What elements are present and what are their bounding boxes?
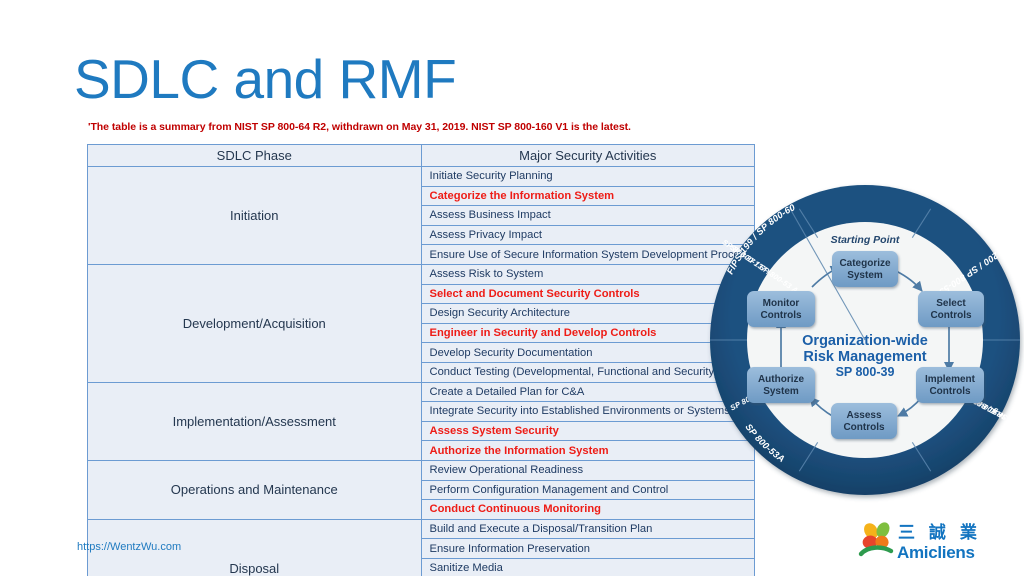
activity-cell: Build and Execute a Disposal/Transition … bbox=[421, 519, 755, 539]
cycle-arrows bbox=[781, 267, 949, 417]
activity-cell: Categorize the Information System bbox=[421, 186, 755, 206]
rmf-inner-disc bbox=[747, 222, 983, 458]
rmf-step-monitor-line1: Monitor bbox=[763, 298, 800, 309]
activity-cell: Assess Business Impact bbox=[421, 206, 755, 226]
activity-cell: Ensure Use of Secure Information System … bbox=[421, 245, 755, 265]
table-row: DisposalBuild and Execute a Disposal/Tra… bbox=[88, 519, 755, 539]
rmf-step-authorize-box bbox=[747, 367, 815, 403]
activity-cell: Integrate Security into Established Envi… bbox=[421, 402, 755, 422]
butterfly-flower-mark-icon bbox=[861, 521, 892, 554]
rmf-step-select: Select Controls bbox=[918, 291, 984, 327]
sdlc-rmf-table: SDLC Phase Major Security Activities Ini… bbox=[87, 144, 755, 576]
column-header-major-security-activities: Major Security Activities bbox=[421, 145, 755, 167]
rmf-step-assess-box bbox=[831, 403, 897, 439]
ring-label-right-lower-3: SP 800-61, SP 800-128 bbox=[930, 375, 1009, 423]
rmf-step-implement-line1: Implement bbox=[925, 374, 976, 385]
page-title: SDLC and RMF bbox=[74, 48, 456, 110]
rmf-step-assess-line2: Controls bbox=[843, 422, 885, 433]
table-row: InitiationInitiate Security Planning bbox=[88, 167, 755, 187]
rmf-step-authorize: Authorize System bbox=[747, 367, 815, 403]
rmf-step-select-line1: Select bbox=[936, 298, 966, 309]
rmf-step-authorize-line2: System bbox=[763, 386, 799, 397]
rmf-step-monitor-box bbox=[747, 291, 815, 327]
rmf-step-implement: Implement Controls bbox=[916, 367, 984, 403]
activity-cell: Create a Detailed Plan for C&A bbox=[421, 382, 755, 402]
ring-label-right-upper: FIPS 200 / SP 800-53 bbox=[937, 237, 1020, 297]
rmf-step-categorize-box bbox=[832, 251, 898, 287]
slide-canvas: SDLC and RMF ʹThe table is a summary fro… bbox=[0, 0, 1024, 576]
phase-cell: Development/Acquisition bbox=[88, 264, 422, 382]
activity-cell: Perform Configuration Management and Con… bbox=[421, 480, 755, 500]
table-row: Implementation/AssessmentCreate a Detail… bbox=[88, 382, 755, 402]
ring-label-right-upper-group: FIPS 200 / SP 800-53 bbox=[937, 237, 1020, 297]
rmf-step-implement-line2: Controls bbox=[929, 386, 971, 397]
rmf-outer-ring bbox=[710, 185, 1020, 495]
starting-point-label: Starting Point bbox=[831, 234, 900, 246]
source-note: ʹThe table is a summary from NIST SP 800… bbox=[88, 121, 631, 133]
table-row: Development/AcquisitionAssess Risk to Sy… bbox=[88, 264, 755, 284]
activity-cell: Sanitize Media bbox=[421, 558, 755, 576]
activity-cell: Assess Privacy Impact bbox=[421, 225, 755, 245]
phase-cell: Initiation bbox=[88, 167, 422, 265]
column-header-sdlc-phase: SDLC Phase bbox=[88, 145, 422, 167]
activity-cell: Review Operational Readiness bbox=[421, 460, 755, 480]
ring-dividers bbox=[710, 206, 1020, 471]
rmf-step-monitor: Monitor Controls bbox=[747, 291, 815, 327]
activity-cell: Authorize the Information System bbox=[421, 441, 755, 461]
table-body: InitiationInitiate Security PlanningCate… bbox=[88, 167, 755, 576]
phase-cell: Operations and Maintenance bbox=[88, 460, 422, 519]
activity-cell: Initiate Security Planning bbox=[421, 167, 755, 187]
table-row: Operations and MaintenanceReview Operati… bbox=[88, 460, 755, 480]
ring-label-right-lower-group: Multiple NIST Publicationsʺ ʺe.g., SP 80… bbox=[930, 375, 1024, 437]
rmf-center-line1: Organization-wide bbox=[802, 333, 928, 349]
activity-cell: Conduct Testing (Developmental, Function… bbox=[421, 362, 755, 382]
activity-cell: Conduct Continuous Monitoring bbox=[421, 500, 755, 520]
rmf-step-authorize-line1: Authorize bbox=[758, 374, 805, 385]
logo-cjk-text: 三 誠 業 bbox=[898, 522, 978, 543]
rmf-center-line3: SP 800-39 bbox=[836, 365, 895, 379]
rmf-step-categorize-line1: Categorize bbox=[839, 258, 891, 269]
rmf-step-assess-line1: Assess bbox=[846, 410, 881, 421]
table-header-row: SDLC Phase Major Security Activities bbox=[88, 145, 755, 167]
ring-label-right-lower-1: Multiple NIST Publicationsʺ bbox=[939, 379, 1024, 436]
activity-cell: Design Security Architecture bbox=[421, 304, 755, 324]
activity-cell: Select and Document Security Controls bbox=[421, 284, 755, 304]
ring-label-right-lower-2: ʺe.g., SP 800-34, bbox=[949, 385, 1008, 422]
rmf-step-categorize-line2: System bbox=[847, 270, 883, 281]
rmf-step-implement-box bbox=[916, 367, 984, 403]
activity-cell: Develop Security Documentation bbox=[421, 343, 755, 363]
rmf-step-select-box bbox=[918, 291, 984, 327]
activity-cell: Assess System Security bbox=[421, 421, 755, 441]
rmf-center-line2: Risk Management bbox=[803, 349, 926, 365]
rmf-step-monitor-line2: Controls bbox=[760, 310, 802, 321]
footer-url[interactable]: https://WentzWu.com bbox=[77, 541, 181, 553]
rmf-step-select-line2: Controls bbox=[930, 310, 972, 321]
logo-wordmark: Amicliens bbox=[897, 543, 975, 562]
rmf-step-categorize: Categorize System bbox=[832, 251, 898, 287]
activity-cell: Assess Risk to System bbox=[421, 264, 755, 284]
phase-cell: Implementation/Assessment bbox=[88, 382, 422, 460]
table-head: SDLC Phase Major Security Activities bbox=[88, 145, 755, 167]
rmf-step-assess: Assess Controls bbox=[831, 403, 897, 439]
brand-logo: 三 誠 業 Amicliens bbox=[858, 521, 978, 567]
activity-cell: Ensure Information Preservation bbox=[421, 539, 755, 559]
activity-cell: Engineer in Security and Develop Control… bbox=[421, 323, 755, 343]
